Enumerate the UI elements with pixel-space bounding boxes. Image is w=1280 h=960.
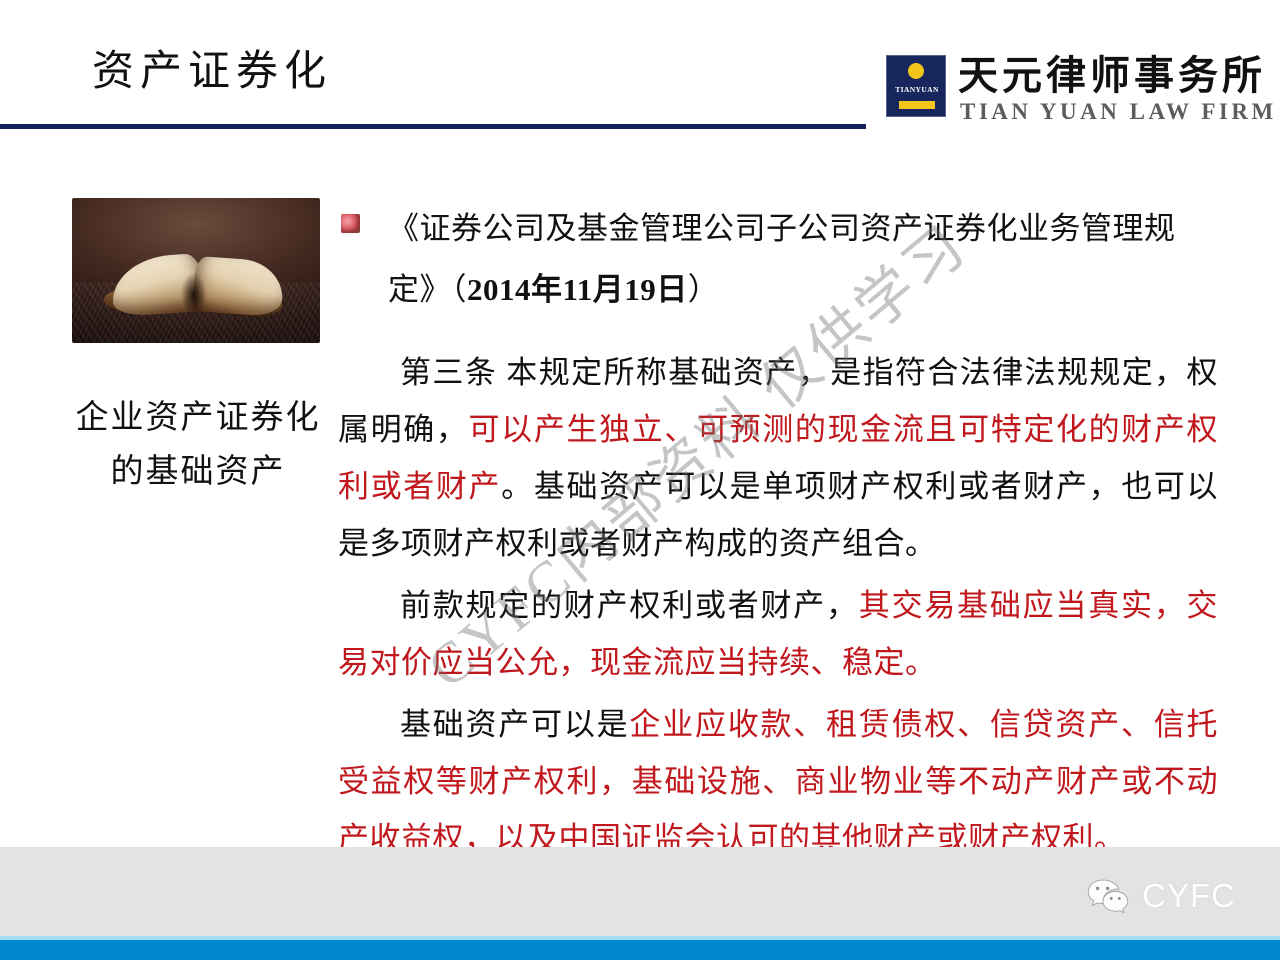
- logo-bar-icon: [899, 101, 935, 109]
- slide-canvas: 资产证券化 TIANYUAN 天元律师事务所 TIAN YUAN LAW FIR…: [0, 0, 1280, 960]
- logo-mark-label: TIANYUAN: [887, 85, 947, 94]
- firm-logo: TIANYUAN 天元律师事务所 TIAN YUAN LAW FIRM: [886, 55, 1226, 127]
- header-divider: [0, 124, 866, 129]
- left-illustration-column: 企业资产证券化的基础资产: [62, 198, 334, 499]
- regulation-title-tail: ）: [688, 272, 720, 307]
- regulation-paragraph: 前款规定的财产权利或者财产，其交易基础应当真实，交易对价应当公允，现金流应当持续…: [338, 577, 1218, 691]
- flower-bullet-icon: [341, 214, 360, 233]
- page-title: 资产证券化: [92, 46, 332, 98]
- text-run: 前款规定的财产权利或者财产，: [400, 588, 859, 623]
- logo-sun-icon: [908, 63, 924, 79]
- slide-header: 资产证券化 TIANYUAN 天元律师事务所 TIAN YUAN LAW FIR…: [0, 0, 1280, 130]
- book-spine-shadow: [181, 273, 206, 317]
- regulation-heading: 《证券公司及基金管理公司子公司资产证券化业务管理规定》（2014年11月19日）: [388, 198, 1218, 320]
- footer-accent-bar: [0, 940, 1280, 960]
- footer-brand-label: CYFC: [1142, 877, 1236, 915]
- footer-brand: CYFC: [1086, 877, 1236, 915]
- firm-name-en: TIAN YUAN LAW FIRM: [960, 99, 1277, 125]
- text-run: 基础资产可以是: [400, 707, 629, 742]
- content-column: 《证券公司及基金管理公司子公司资产证券化业务管理规定》（2014年11月19日）…: [338, 198, 1218, 867]
- wechat-icon: [1086, 878, 1130, 914]
- open-book-photo: [72, 198, 320, 343]
- regulation-date-text: 2014年11月19日: [467, 272, 688, 307]
- heading-bullet-row: 《证券公司及基金管理公司子公司资产证券化业务管理规定》（2014年11月19日）: [338, 198, 1218, 320]
- firm-name-cn: 天元律师事务所: [958, 53, 1266, 99]
- logo-mark-icon: TIANYUAN: [886, 55, 946, 117]
- left-caption: 企业资产证券化的基础资产: [62, 391, 334, 499]
- regulation-paragraph: 第三条 本规定所称基础资产，是指符合法律法规规定，权属明确，可以产生独立、可预测…: [338, 344, 1218, 572]
- regulation-paragraph: 基础资产可以是企业应收款、租赁债权、信贷资产、信托受益权等财产权利，基础设施、商…: [338, 696, 1218, 867]
